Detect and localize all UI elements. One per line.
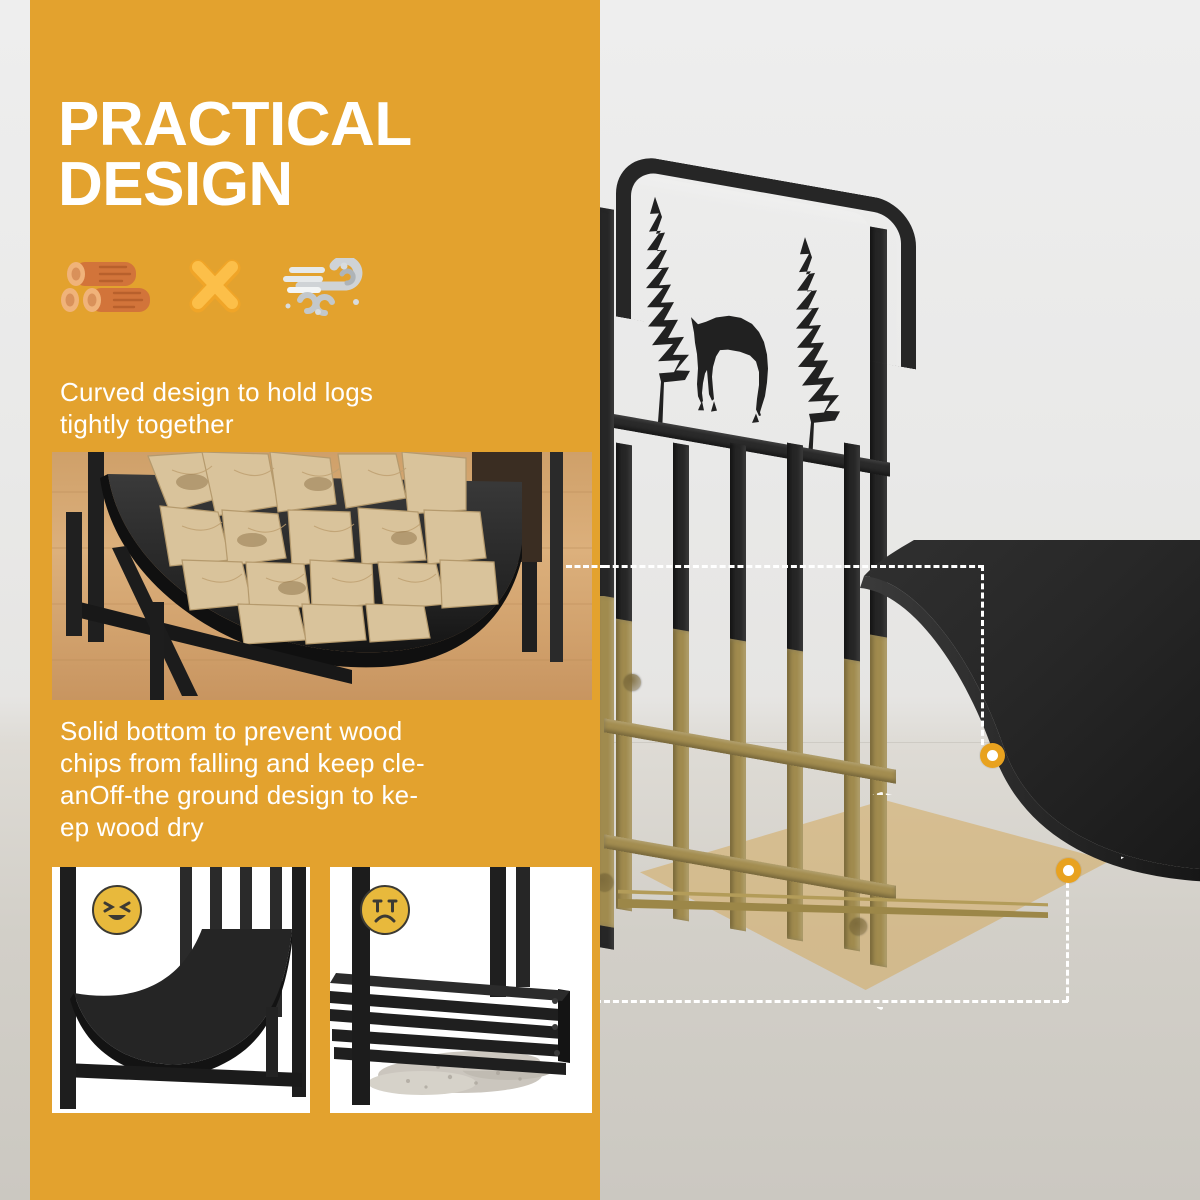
info-panel: PRACTICAL DESIGN bbox=[30, 0, 600, 1200]
callout-line-right-lower bbox=[1066, 882, 1069, 1002]
rivet-top-left bbox=[624, 674, 641, 691]
sad-face-badge bbox=[360, 885, 410, 935]
callout-line-right-upper bbox=[981, 565, 984, 745]
feature-2-text: Solid bottom to prevent wood chips from … bbox=[60, 715, 580, 843]
callout-line-top bbox=[586, 565, 984, 568]
title-line-1: PRACTICAL bbox=[58, 95, 578, 155]
feature-1-text: Curved design to hold logs tightly toget… bbox=[60, 376, 580, 440]
page-title: PRACTICAL DESIGN bbox=[58, 95, 578, 215]
wood-logs-icon bbox=[60, 258, 156, 318]
photo-slatted-bottom-bad bbox=[330, 867, 592, 1113]
marker-tray-base[interactable] bbox=[1056, 858, 1081, 883]
icon-row bbox=[60, 258, 370, 318]
cat-silhouette-icon bbox=[691, 309, 768, 426]
gold-slat-1 bbox=[616, 619, 632, 912]
photo-good-svg bbox=[52, 867, 310, 1113]
photo-curved-tray-with-logs bbox=[52, 452, 592, 700]
cross-x-icon bbox=[186, 258, 244, 318]
photo-solid-bottom-good bbox=[52, 867, 310, 1113]
wind-icon bbox=[274, 258, 370, 318]
pine-tree-right-icon bbox=[796, 236, 840, 472]
marker-tray-edge[interactable] bbox=[980, 743, 1005, 768]
callout-line-bottom bbox=[586, 1000, 1068, 1003]
happy-face-badge bbox=[92, 885, 142, 935]
callout-entry-line bbox=[566, 565, 606, 568]
product-infographic: PRACTICAL DESIGN bbox=[0, 0, 1200, 1200]
pine-tree-left-icon bbox=[646, 195, 690, 441]
photo-logs-svg bbox=[52, 452, 592, 700]
title-line-2: DESIGN bbox=[58, 155, 578, 215]
